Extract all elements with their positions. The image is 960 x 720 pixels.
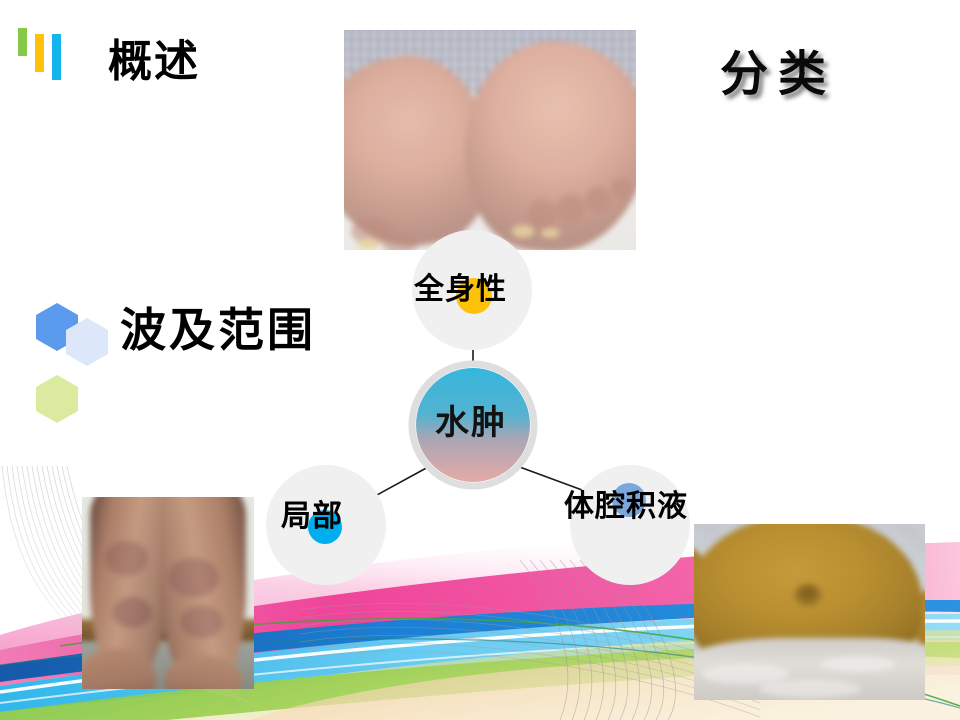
node-cavity-circle[interactable] bbox=[570, 465, 690, 585]
node-label-cavity-effusion: 体腔积液 bbox=[564, 492, 688, 522]
edema-classification-diagram bbox=[0, 0, 960, 720]
node-label-local: 局部 bbox=[281, 502, 343, 532]
node-label-systemic: 全身性 bbox=[414, 275, 507, 305]
slide-canvas: 概述 波及范围 分类 bbox=[0, 0, 960, 720]
node-label-center: 水肿 bbox=[435, 406, 507, 440]
